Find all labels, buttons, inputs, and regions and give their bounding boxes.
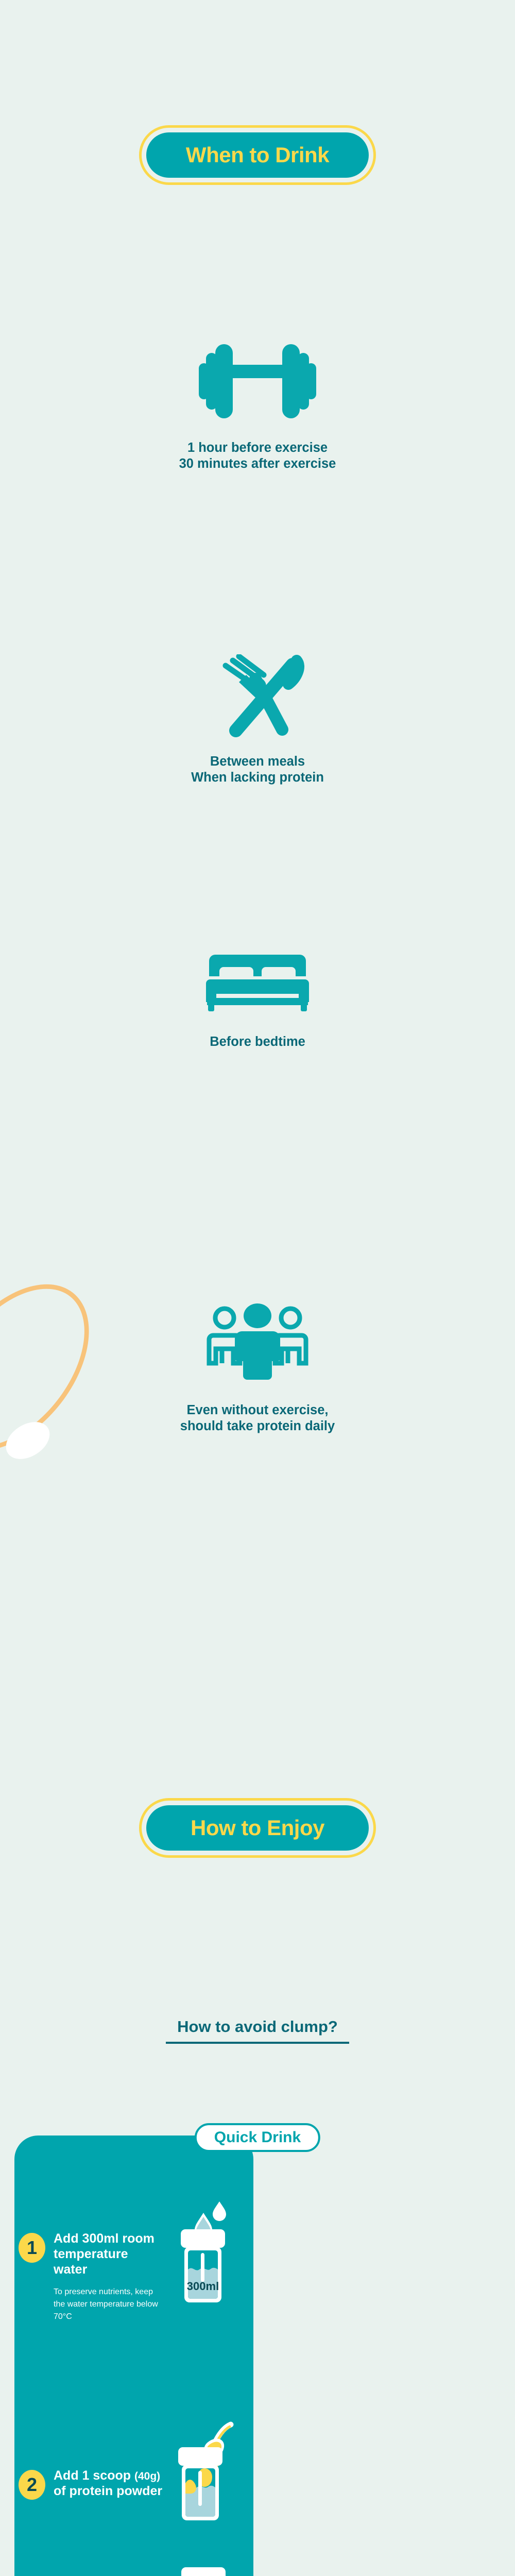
when-to-drink-heading-pill[interactable]: When to Drink: [0, 125, 515, 185]
step-number-badge: 1: [19, 2233, 45, 2263]
section-heading-label: When to Drink: [186, 144, 329, 166]
pill-body: When to Drink: [146, 132, 369, 178]
when-item-bedtime: Before bedtime: [0, 951, 515, 1050]
pill-outline: When to Drink: [139, 125, 376, 185]
when-item-caption: Before bedtime: [0, 1034, 515, 1050]
family-people-icon: [206, 1303, 309, 1382]
shaker-shaking-icon: [170, 2543, 236, 2576]
dumbbell-icon: [191, 340, 324, 422]
step-title: Add 300ml room temperature water: [54, 2231, 163, 2277]
step-number-badge: 2: [19, 2470, 45, 2500]
step-text-block: Add 300ml room temperature water To pres…: [54, 2231, 163, 2323]
step-title-rest: of protein powder: [54, 2484, 162, 2498]
how-to-enjoy-heading-pill[interactable]: How to Enjoy: [0, 1798, 515, 1858]
subheading-label: How to avoid clump?: [0, 2018, 515, 2036]
when-item-meals: Between meals When lacking protein: [0, 654, 515, 786]
shaker-volume-label: 300ml: [187, 2280, 219, 2293]
quick-drink-badge: Quick Drink: [195, 2123, 320, 2152]
step-text-block: Add 1 scoop (40g)of protein powder: [54, 2468, 163, 2499]
step-title: Add 1 scoop (40g)of protein powder: [54, 2468, 163, 2499]
section-heading-label: How to Enjoy: [191, 1817, 324, 1839]
avoid-clump-subheading: How to avoid clump?: [0, 2018, 515, 2044]
subheading-underline: [166, 2042, 349, 2044]
quick-drink-badge-label: Quick Drink: [214, 2129, 301, 2146]
when-item-exercise: 1 hour before exercise 30 minutes after …: [0, 340, 515, 472]
when-item-caption: Between meals When lacking protein: [0, 754, 515, 786]
fork-knife-icon: [206, 654, 309, 739]
pill-body: How to Enjoy: [146, 1805, 369, 1851]
when-item-caption: Even without exercise, should take prote…: [0, 1402, 515, 1434]
infographic-page: When to Drink 1 hour before exercise 30 …: [0, 0, 515, 2576]
shaker-with-water-icon: 300ml: [171, 2197, 233, 2308]
step-title-main: Add 1 scoop: [54, 2468, 134, 2483]
when-item-daily: Even without exercise, should take prote…: [0, 1303, 515, 1434]
bed-icon: [206, 951, 309, 1012]
step-title-amount: (40g): [134, 2470, 160, 2482]
shaker-with-powder-icon: [170, 2421, 235, 2524]
pill-outline: How to Enjoy: [139, 1798, 376, 1858]
step-note: To preserve nutrients, keep the water te…: [54, 2286, 163, 2323]
when-item-caption: 1 hour before exercise 30 minutes after …: [0, 440, 515, 472]
